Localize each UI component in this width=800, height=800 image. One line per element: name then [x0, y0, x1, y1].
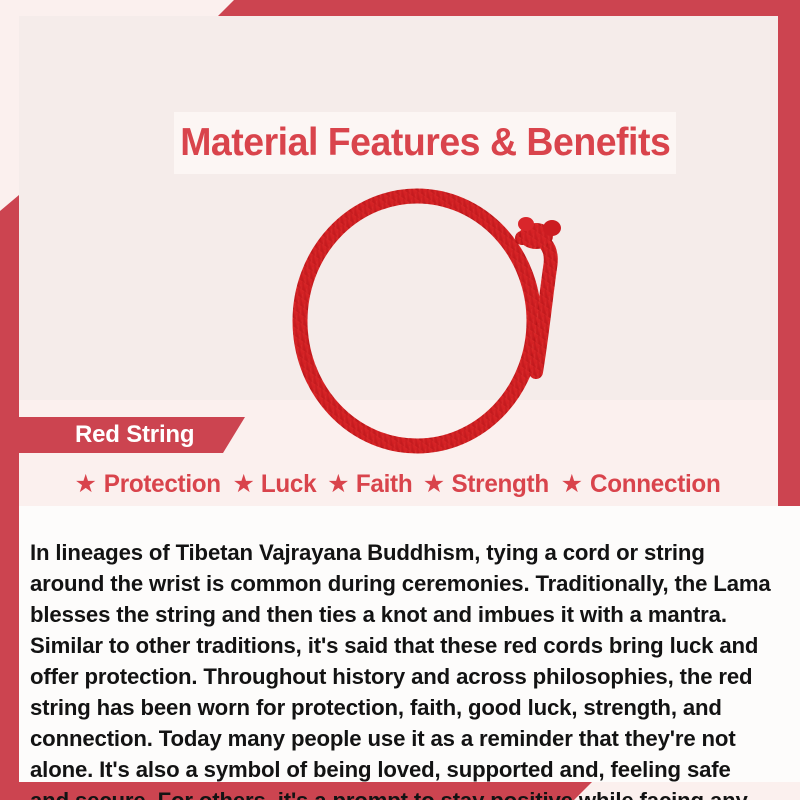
star-icon: ★: [75, 472, 97, 497]
status-badge: Red String: [19, 417, 245, 453]
description-text: In lineages of Tibetan Vajrayana Buddhis…: [30, 537, 771, 800]
feature-list: ★ Protection ★ Luck ★ Faith ★ Strength ★…: [19, 466, 778, 502]
product-badge-label: Red String: [19, 421, 194, 449]
decorative-left-strip: [0, 195, 19, 800]
feature-item-luck: ★ Luck: [233, 470, 318, 499]
feature-item-connection: ★ Connection: [561, 470, 723, 499]
star-icon: ★: [423, 472, 445, 497]
title-plate: Material Features & Benefits: [174, 112, 676, 174]
feature-label: Faith: [355, 470, 411, 499]
feature-label: Protection: [104, 470, 221, 499]
product-info-card: Material Features & Benefits: [0, 0, 800, 800]
hero-panel: Material Features & Benefits: [19, 16, 778, 400]
feature-item-faith: ★ Faith: [327, 470, 413, 499]
feature-label: Strength: [452, 470, 549, 499]
page-title: Material Features & Benefits: [180, 121, 670, 165]
feature-item-strength: ★ Strength: [423, 470, 551, 499]
feature-label: Connection: [590, 470, 720, 499]
decorative-top-band: [218, 0, 800, 16]
feature-label: Luck: [261, 470, 316, 499]
star-icon: ★: [327, 472, 349, 497]
feature-item-protection: ★ Protection: [75, 470, 223, 499]
description-panel: In lineages of Tibetan Vajrayana Buddhis…: [19, 506, 800, 782]
product-image: [274, 176, 584, 461]
star-icon: ★: [233, 472, 255, 497]
star-icon: ★: [561, 472, 583, 497]
